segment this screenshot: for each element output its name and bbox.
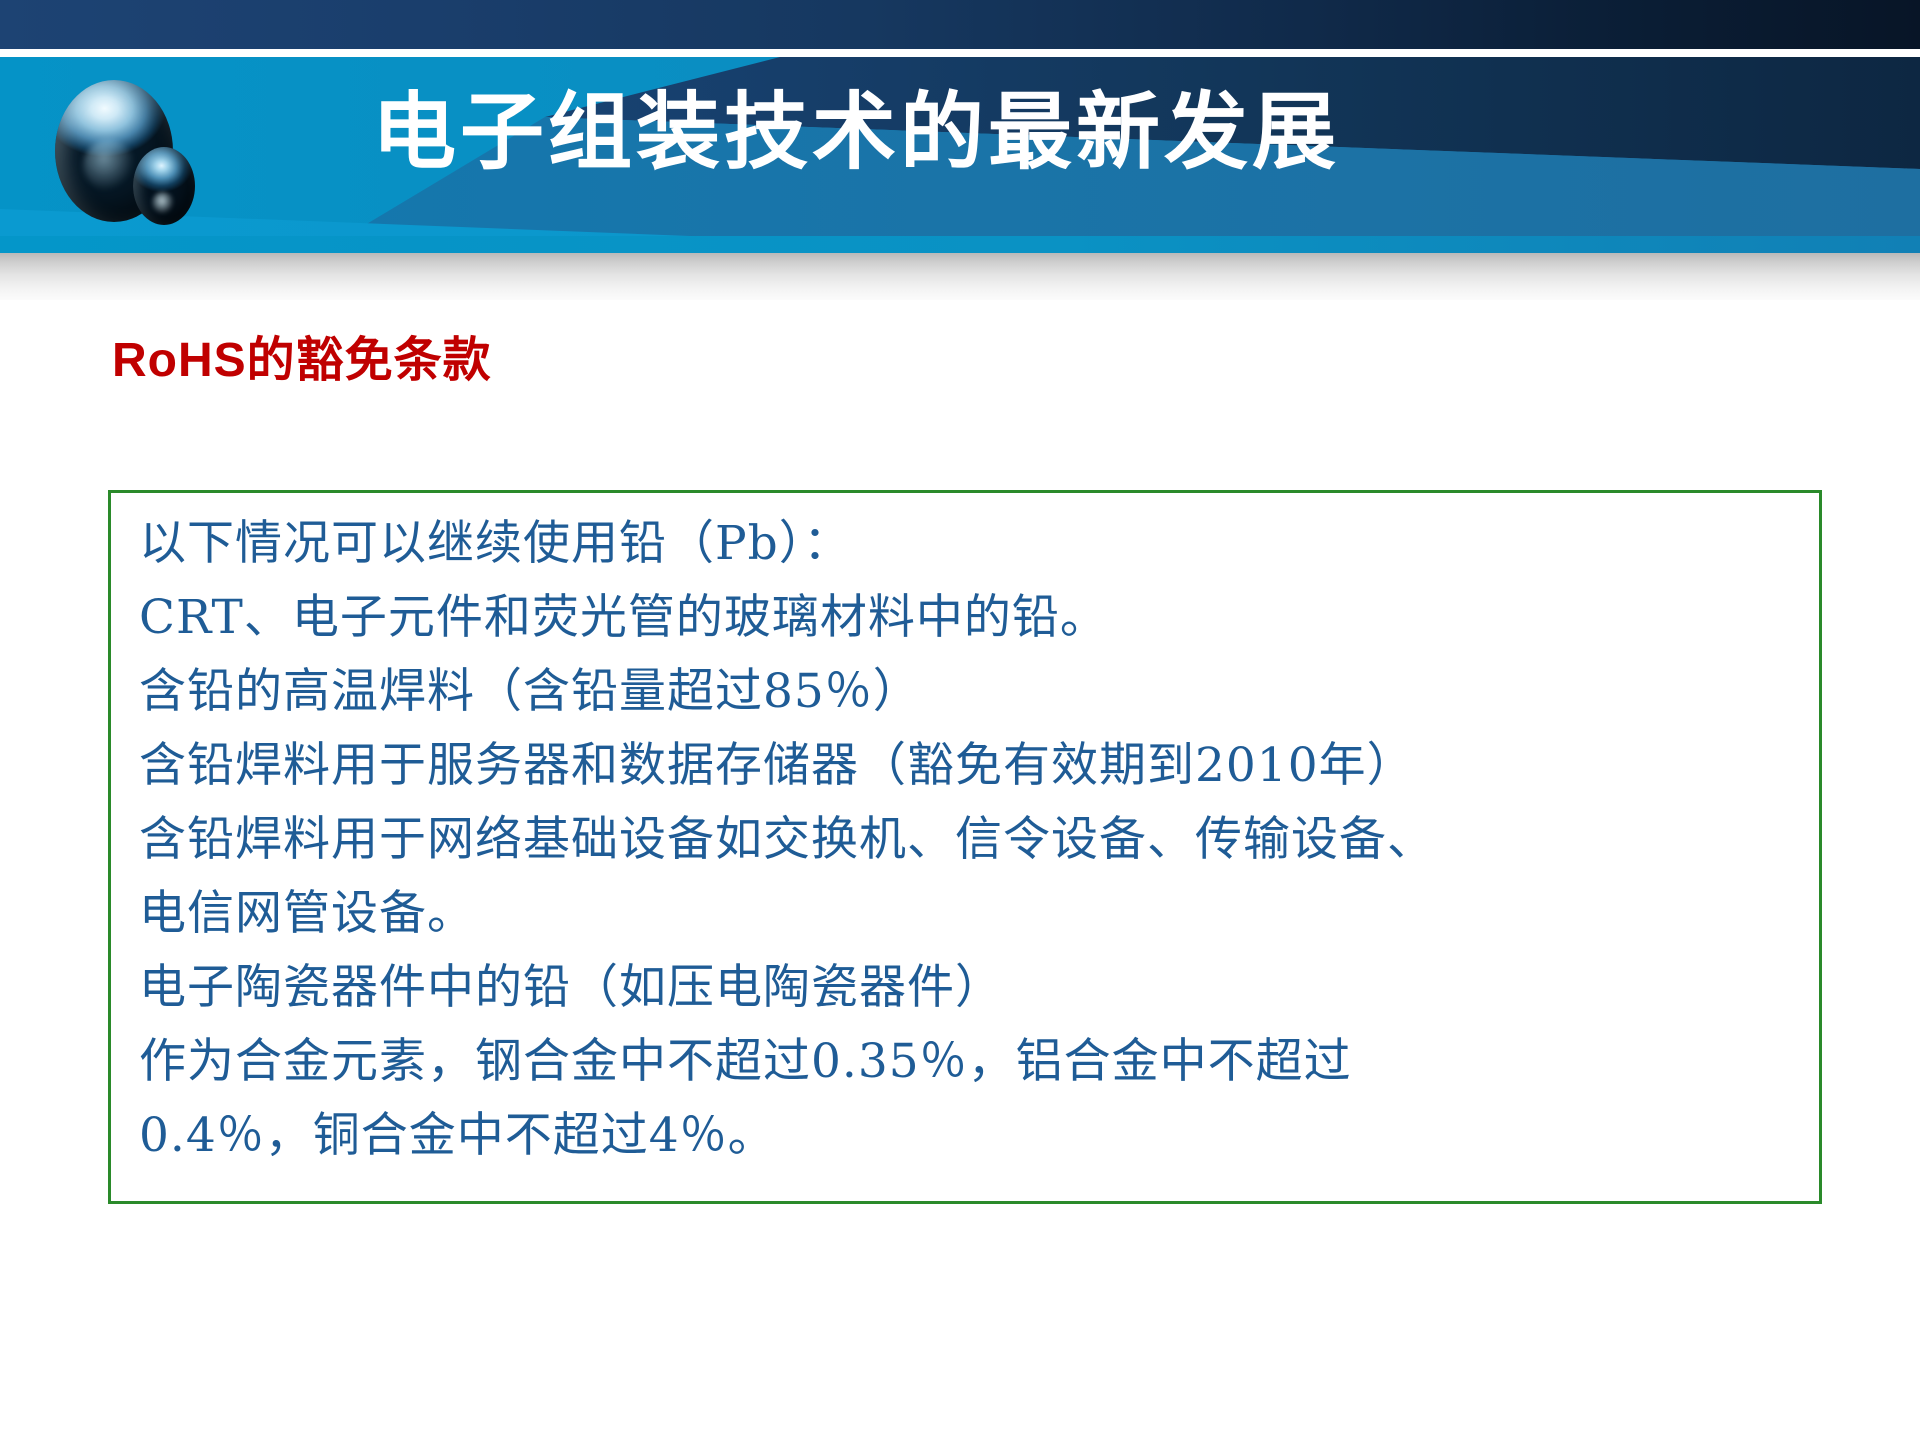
header-bottom-cyan-strip — [0, 236, 1920, 253]
body-line: 含铅的高温焊料（含铅量超过85％） — [139, 655, 1813, 729]
body-line: 作为合金元素，钢合金中不超过0.35％，铝合金中不超过 — [139, 1025, 1813, 1099]
body-line: 电子陶瓷器件中的铅（如压电陶瓷器件） — [139, 951, 1813, 1025]
body-line: 含铅焊料用于服务器和数据存储器（豁免有效期到2010年） — [139, 729, 1813, 803]
section-subheading-cjk: 的豁免条款 — [247, 334, 492, 387]
exemption-content-box: 以下情况可以继续使用铅（Pb）： CRT、电子元件和荧光管的玻璃材料中的铅。 含… — [108, 490, 1822, 1204]
body-line: 0.4％，铜合金中不超过4％。 — [139, 1099, 1813, 1173]
body-line: CRT、电子元件和荧光管的玻璃材料中的铅。 — [139, 581, 1813, 655]
body-line: 含铅焊料用于网络基础设备如交换机、信令设备、传输设备、 — [139, 803, 1813, 877]
section-subheading: RoHS的豁免条款 — [112, 320, 492, 390]
header-top-navy-band — [0, 0, 1920, 49]
header-band-separator — [0, 49, 1920, 57]
header-drop-shadow — [0, 253, 1920, 300]
metallic-sphere-small-icon — [133, 147, 195, 225]
logo-spheres — [40, 62, 270, 247]
slide-root: 电子组装技术的最新发展 RoHS的豁免条款 以下情况可以继续使用铅（Pb）： C… — [0, 0, 1920, 1440]
body-line: 电信网管设备。 — [139, 877, 1813, 951]
page-title: 电子组装技术的最新发展 — [372, 72, 1572, 192]
slide-header: 电子组装技术的最新发展 — [0, 0, 1920, 300]
body-line: 以下情况可以继续使用铅（Pb）： — [139, 507, 1813, 581]
exemption-text-block: 以下情况可以继续使用铅（Pb）： CRT、电子元件和荧光管的玻璃材料中的铅。 含… — [139, 507, 1813, 1173]
section-subheading-latin: RoHS — [112, 334, 247, 387]
